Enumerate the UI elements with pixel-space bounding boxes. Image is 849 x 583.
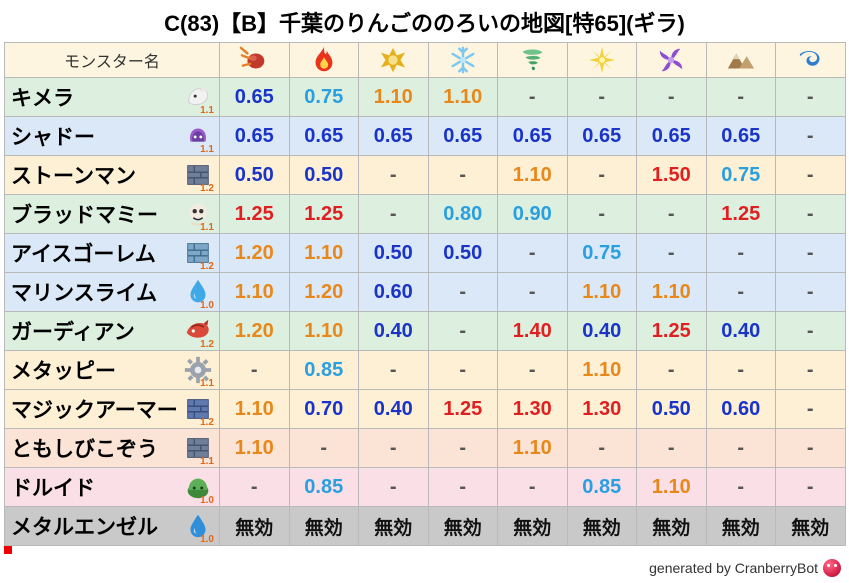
resist-cell: 無効 (359, 507, 429, 546)
monster-name-cell: キメラ1.1 (5, 78, 220, 117)
resist-cell: - (637, 195, 707, 234)
resist-cell: - (637, 351, 707, 390)
monster-name-cell: シャドー1.1 (5, 117, 220, 156)
resist-cell: 無効 (289, 507, 359, 546)
monster-level-label: 1.0 (200, 534, 214, 545)
monster-level-label: 1.0 (200, 495, 214, 506)
resist-cell: - (498, 351, 568, 390)
resist-cell: 0.50 (220, 156, 290, 195)
resist-cell: 1.20 (220, 312, 290, 351)
resist-cell: - (567, 195, 637, 234)
column-header-light (567, 43, 637, 78)
wave-icon (776, 43, 845, 77)
resist-cell: 1.25 (220, 195, 290, 234)
resist-cell: 1.10 (637, 468, 707, 507)
footer-text: generated by CranberryBot (649, 560, 818, 576)
monster-name-label: ともしびこぞう (11, 433, 158, 463)
explosion-icon (359, 43, 428, 77)
resist-cell: - (428, 429, 498, 468)
resist-cell: - (428, 312, 498, 351)
resist-cell: - (776, 429, 846, 468)
monster-name-label: メタッピー (11, 355, 116, 385)
resist-cell: 1.25 (428, 390, 498, 429)
monster-name-cell: ブラッドマミー1.1 (5, 195, 220, 234)
monster-name-label: シャドー (11, 121, 95, 151)
column-header-dark (637, 43, 707, 78)
column-header-explode (359, 43, 429, 78)
table-row: マリンスライム1.01.101.200.60--1.101.10-- (5, 273, 846, 312)
resist-cell: 0.65 (567, 117, 637, 156)
resist-cell: 0.85 (289, 468, 359, 507)
resist-cell: 1.30 (498, 390, 568, 429)
resist-cell: - (359, 156, 429, 195)
resist-cell: 0.50 (428, 234, 498, 273)
resist-cell: 0.75 (706, 156, 776, 195)
resist-cell: - (776, 312, 846, 351)
resist-cell: - (359, 468, 429, 507)
table-header: モンスター名 (5, 43, 846, 78)
resist-cell: 1.10 (359, 78, 429, 117)
resist-cell: 0.60 (359, 273, 429, 312)
resist-cell: 1.10 (289, 234, 359, 273)
monster-name-label: ガーディアン (11, 316, 135, 346)
column-header-fire (289, 43, 359, 78)
monster-level-label: 1.0 (200, 300, 214, 311)
resist-cell: - (776, 468, 846, 507)
column-header-earth (706, 43, 776, 78)
resist-cell: 0.65 (220, 117, 290, 156)
resist-cell: 1.50 (637, 156, 707, 195)
monster-name-label: メタルエンゼル (11, 511, 158, 541)
monster-name-label: マジックアーマー (11, 394, 178, 424)
monster-name-label: ドルイド (11, 472, 95, 502)
resist-cell: 0.65 (498, 117, 568, 156)
resist-cell: 1.10 (220, 429, 290, 468)
monster-name-cell: アイスゴーレム1.2 (5, 234, 220, 273)
resist-cell: - (359, 429, 429, 468)
monster-name-label: ブラッドマミー (11, 199, 158, 229)
monster-name-cell: メタッピー1.1 (5, 351, 220, 390)
resist-cell: 1.40 (498, 312, 568, 351)
resist-cell: 0.65 (706, 117, 776, 156)
resist-cell: 0.75 (567, 234, 637, 273)
cranberry-logo-icon (823, 559, 841, 577)
resist-cell: - (776, 351, 846, 390)
resist-cell: 0.85 (567, 468, 637, 507)
resist-cell: 0.80 (428, 195, 498, 234)
resist-cell: 0.90 (498, 195, 568, 234)
resist-cell: - (359, 195, 429, 234)
resist-cell: 1.25 (706, 195, 776, 234)
column-header-water (776, 43, 846, 78)
table-row: アイスゴーレム1.21.201.100.500.50-0.75--- (5, 234, 846, 273)
monster-name-cell: マリンスライム1.0 (5, 273, 220, 312)
resist-cell: 無効 (567, 507, 637, 546)
monster-name-cell: メタルエンゼル1.0 (5, 507, 220, 546)
resistance-table: モンスター名 キメラ1.10.650.751.101.10-----シャドー1.… (4, 42, 846, 546)
table-row: メタッピー1.1-0.85---1.10--- (5, 351, 846, 390)
footer: generated by CranberryBot (649, 559, 841, 577)
resist-cell: 0.50 (289, 156, 359, 195)
resist-cell: - (637, 234, 707, 273)
resist-cell: 1.10 (498, 156, 568, 195)
page-title: C(83)【B】千葉のりんごののろいの地図[特65](ギラ) (0, 0, 849, 38)
resist-cell: - (637, 429, 707, 468)
resist-cell: 0.40 (567, 312, 637, 351)
monster-name-cell: ドルイド1.0 (5, 468, 220, 507)
resist-cell: 0.50 (359, 234, 429, 273)
resist-cell: 1.30 (567, 390, 637, 429)
resist-cell: 無効 (637, 507, 707, 546)
monster-level-label: 1.2 (200, 183, 214, 194)
resist-cell: - (776, 195, 846, 234)
resistance-table-wrapper: モンスター名 キメラ1.10.650.751.101.10-----シャドー1.… (4, 42, 845, 546)
column-header-wind (498, 43, 568, 78)
resist-cell: - (567, 78, 637, 117)
resist-cell: 1.20 (220, 234, 290, 273)
monster-name-label: マリンスライム (11, 277, 157, 307)
resist-cell: 1.10 (289, 312, 359, 351)
resist-cell: 0.85 (289, 351, 359, 390)
resist-cell: 0.65 (359, 117, 429, 156)
resist-cell: 0.65 (220, 78, 290, 117)
resist-cell: - (706, 234, 776, 273)
resist-cell: 1.10 (567, 273, 637, 312)
monster-name-header: モンスター名 (5, 43, 220, 78)
monster-name-label: ストーンマン (11, 160, 136, 190)
resist-cell: - (498, 468, 568, 507)
resist-cell: - (567, 429, 637, 468)
resist-cell: - (706, 429, 776, 468)
resist-cell: 0.40 (359, 390, 429, 429)
monster-level-label: 1.2 (200, 417, 214, 428)
resist-cell: - (776, 390, 846, 429)
highlight-box (4, 546, 12, 554)
resist-cell: - (220, 468, 290, 507)
resist-cell: - (428, 156, 498, 195)
resist-cell: 無効 (498, 507, 568, 546)
monster-name-cell: ストーンマン1.2 (5, 156, 220, 195)
resist-cell: 1.10 (567, 351, 637, 390)
table-row: シャドー1.10.650.650.650.650.650.650.650.65- (5, 117, 846, 156)
resist-cell: 1.10 (428, 78, 498, 117)
resist-cell: 0.70 (289, 390, 359, 429)
monster-name-label: アイスゴーレム (11, 238, 156, 268)
tornado-icon (498, 43, 567, 77)
resist-cell: 1.25 (637, 312, 707, 351)
resist-cell: 0.65 (428, 117, 498, 156)
table-row: ストーンマン1.20.500.50--1.10-1.500.75- (5, 156, 846, 195)
monster-level-label: 1.1 (200, 456, 214, 467)
table-row: ブラッドマミー1.11.251.25-0.800.90--1.25- (5, 195, 846, 234)
resist-cell: 0.60 (706, 390, 776, 429)
resist-cell: 0.75 (289, 78, 359, 117)
monster-name-cell: マジックアーマー1.2 (5, 390, 220, 429)
column-header-meteo (220, 43, 290, 78)
resist-cell: - (428, 351, 498, 390)
resist-cell: - (289, 429, 359, 468)
mountain-icon (707, 43, 776, 77)
resist-cell: - (637, 78, 707, 117)
starburst-icon (568, 43, 637, 77)
table-row: ドルイド1.0-0.85---0.851.10-- (5, 468, 846, 507)
monster-level-label: 1.2 (200, 339, 214, 350)
resist-cell: - (706, 468, 776, 507)
dark-swirl-icon (637, 43, 706, 77)
snowflake-icon (429, 43, 498, 77)
resist-cell: - (428, 273, 498, 312)
resist-cell: - (776, 78, 846, 117)
table-row: メタルエンゼル1.0無効無効無効無効無効無効無効無効無効 (5, 507, 846, 546)
resist-cell: - (706, 273, 776, 312)
table-row: マジックアーマー1.21.100.700.401.251.301.300.500… (5, 390, 846, 429)
table-row: ガーディアン1.21.201.100.40-1.400.401.250.40- (5, 312, 846, 351)
monster-name-cell: ガーディアン1.2 (5, 312, 220, 351)
resist-cell: 1.20 (289, 273, 359, 312)
table-row: キメラ1.10.650.751.101.10----- (5, 78, 846, 117)
resist-cell: - (498, 273, 568, 312)
resist-cell: 0.50 (637, 390, 707, 429)
monster-name-label: キメラ (11, 82, 74, 112)
resist-cell: 1.10 (637, 273, 707, 312)
resist-cell: - (776, 156, 846, 195)
resist-cell: 0.40 (706, 312, 776, 351)
resist-cell: - (428, 468, 498, 507)
monster-level-label: 1.1 (200, 222, 214, 233)
resist-cell: 無効 (220, 507, 290, 546)
resist-cell: 0.65 (637, 117, 707, 156)
resist-cell: - (776, 117, 846, 156)
meteorite-icon (220, 43, 289, 77)
monster-level-label: 1.2 (200, 261, 214, 272)
resist-cell: 1.25 (289, 195, 359, 234)
resist-cell: - (706, 78, 776, 117)
resist-cell: 1.10 (220, 390, 290, 429)
resist-cell: 無効 (776, 507, 846, 546)
table-row: ともしびこぞう1.11.10---1.10---- (5, 429, 846, 468)
resist-cell: 0.65 (289, 117, 359, 156)
resist-cell: - (567, 156, 637, 195)
resist-cell: 0.40 (359, 312, 429, 351)
resist-cell: - (359, 351, 429, 390)
resist-cell: - (706, 351, 776, 390)
monster-level-label: 1.1 (200, 378, 214, 389)
resist-cell: - (498, 234, 568, 273)
resist-cell: - (776, 273, 846, 312)
resist-cell: - (498, 78, 568, 117)
monster-name-cell: ともしびこぞう1.1 (5, 429, 220, 468)
resist-cell: - (220, 351, 290, 390)
resist-cell: - (776, 234, 846, 273)
resist-cell: 1.10 (220, 273, 290, 312)
table-body: キメラ1.10.650.751.101.10-----シャドー1.10.650.… (5, 78, 846, 546)
monster-level-label: 1.1 (200, 105, 214, 116)
column-header-ice (428, 43, 498, 78)
flame-icon (290, 43, 359, 77)
monster-level-label: 1.1 (200, 144, 214, 155)
resist-cell: 無効 (706, 507, 776, 546)
resist-cell: 無効 (428, 507, 498, 546)
resist-cell: 1.10 (498, 429, 568, 468)
